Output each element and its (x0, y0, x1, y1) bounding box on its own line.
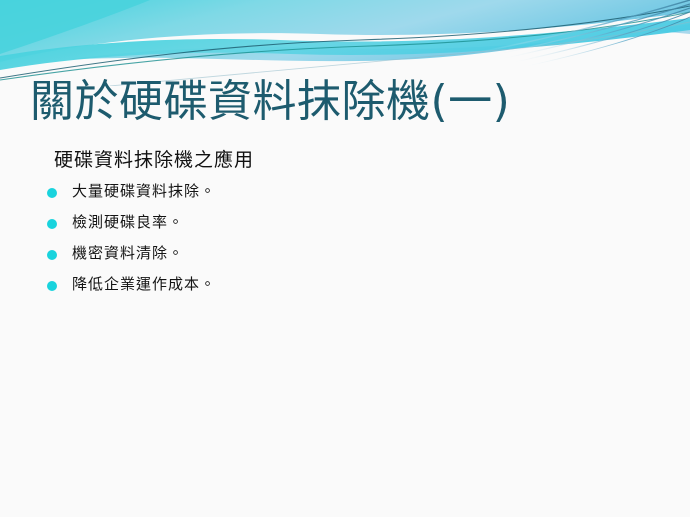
content-placeholder: 硬碟資料抹除機之應用 大量硬碟資料抹除。 檢測硬碟良率。 機密資料清除。 降低企… (44, 147, 644, 306)
wave-shape-corner-wedge (0, 0, 150, 54)
bullet-list: 大量硬碟資料抹除。 檢測硬碟良率。 機密資料清除。 降低企業運作成本。 (44, 181, 644, 298)
list-item-label: 檢測硬碟良率。 (72, 215, 184, 231)
wave-line-teal (0, 12, 690, 80)
bullet-dot-icon (47, 188, 57, 198)
list-item: 大量硬碟資料抹除。 (44, 181, 644, 204)
bullet-dot-icon (47, 219, 57, 229)
wave-shape-pale (0, 0, 690, 34)
list-item: 檢測硬碟良率。 (44, 212, 644, 235)
list-item-label: 降低企業運作成本。 (72, 277, 216, 293)
wave-shape-cyan-main (0, 0, 690, 62)
page-title: 關於硬碟資料抹除機(一) (30, 78, 660, 126)
slide-canvas: 關於硬碟資料抹除機(一) 硬碟資料抹除機之應用 大量硬碟資料抹除。 檢測硬碟良率… (0, 0, 690, 517)
wave-line-dark (0, 6, 690, 78)
wave-ribbon-banner (0, 0, 690, 86)
list-item: 機密資料清除。 (44, 243, 644, 266)
wave-shape-cyan-secondary (0, 18, 690, 70)
title-placeholder: 關於硬碟資料抹除機(一) (30, 78, 660, 126)
bullet-dot-icon (47, 281, 57, 291)
content-subtitle: 硬碟資料抹除機之應用 (54, 147, 644, 175)
list-item-label: 大量硬碟資料抹除。 (72, 184, 216, 200)
bullet-dot-icon (47, 250, 57, 260)
list-item: 降低企業運作成本。 (44, 274, 644, 297)
list-item-label: 機密資料清除。 (72, 246, 184, 262)
wave-shape-white-sweep (0, 12, 690, 70)
wave-stripe-group (480, 0, 690, 68)
